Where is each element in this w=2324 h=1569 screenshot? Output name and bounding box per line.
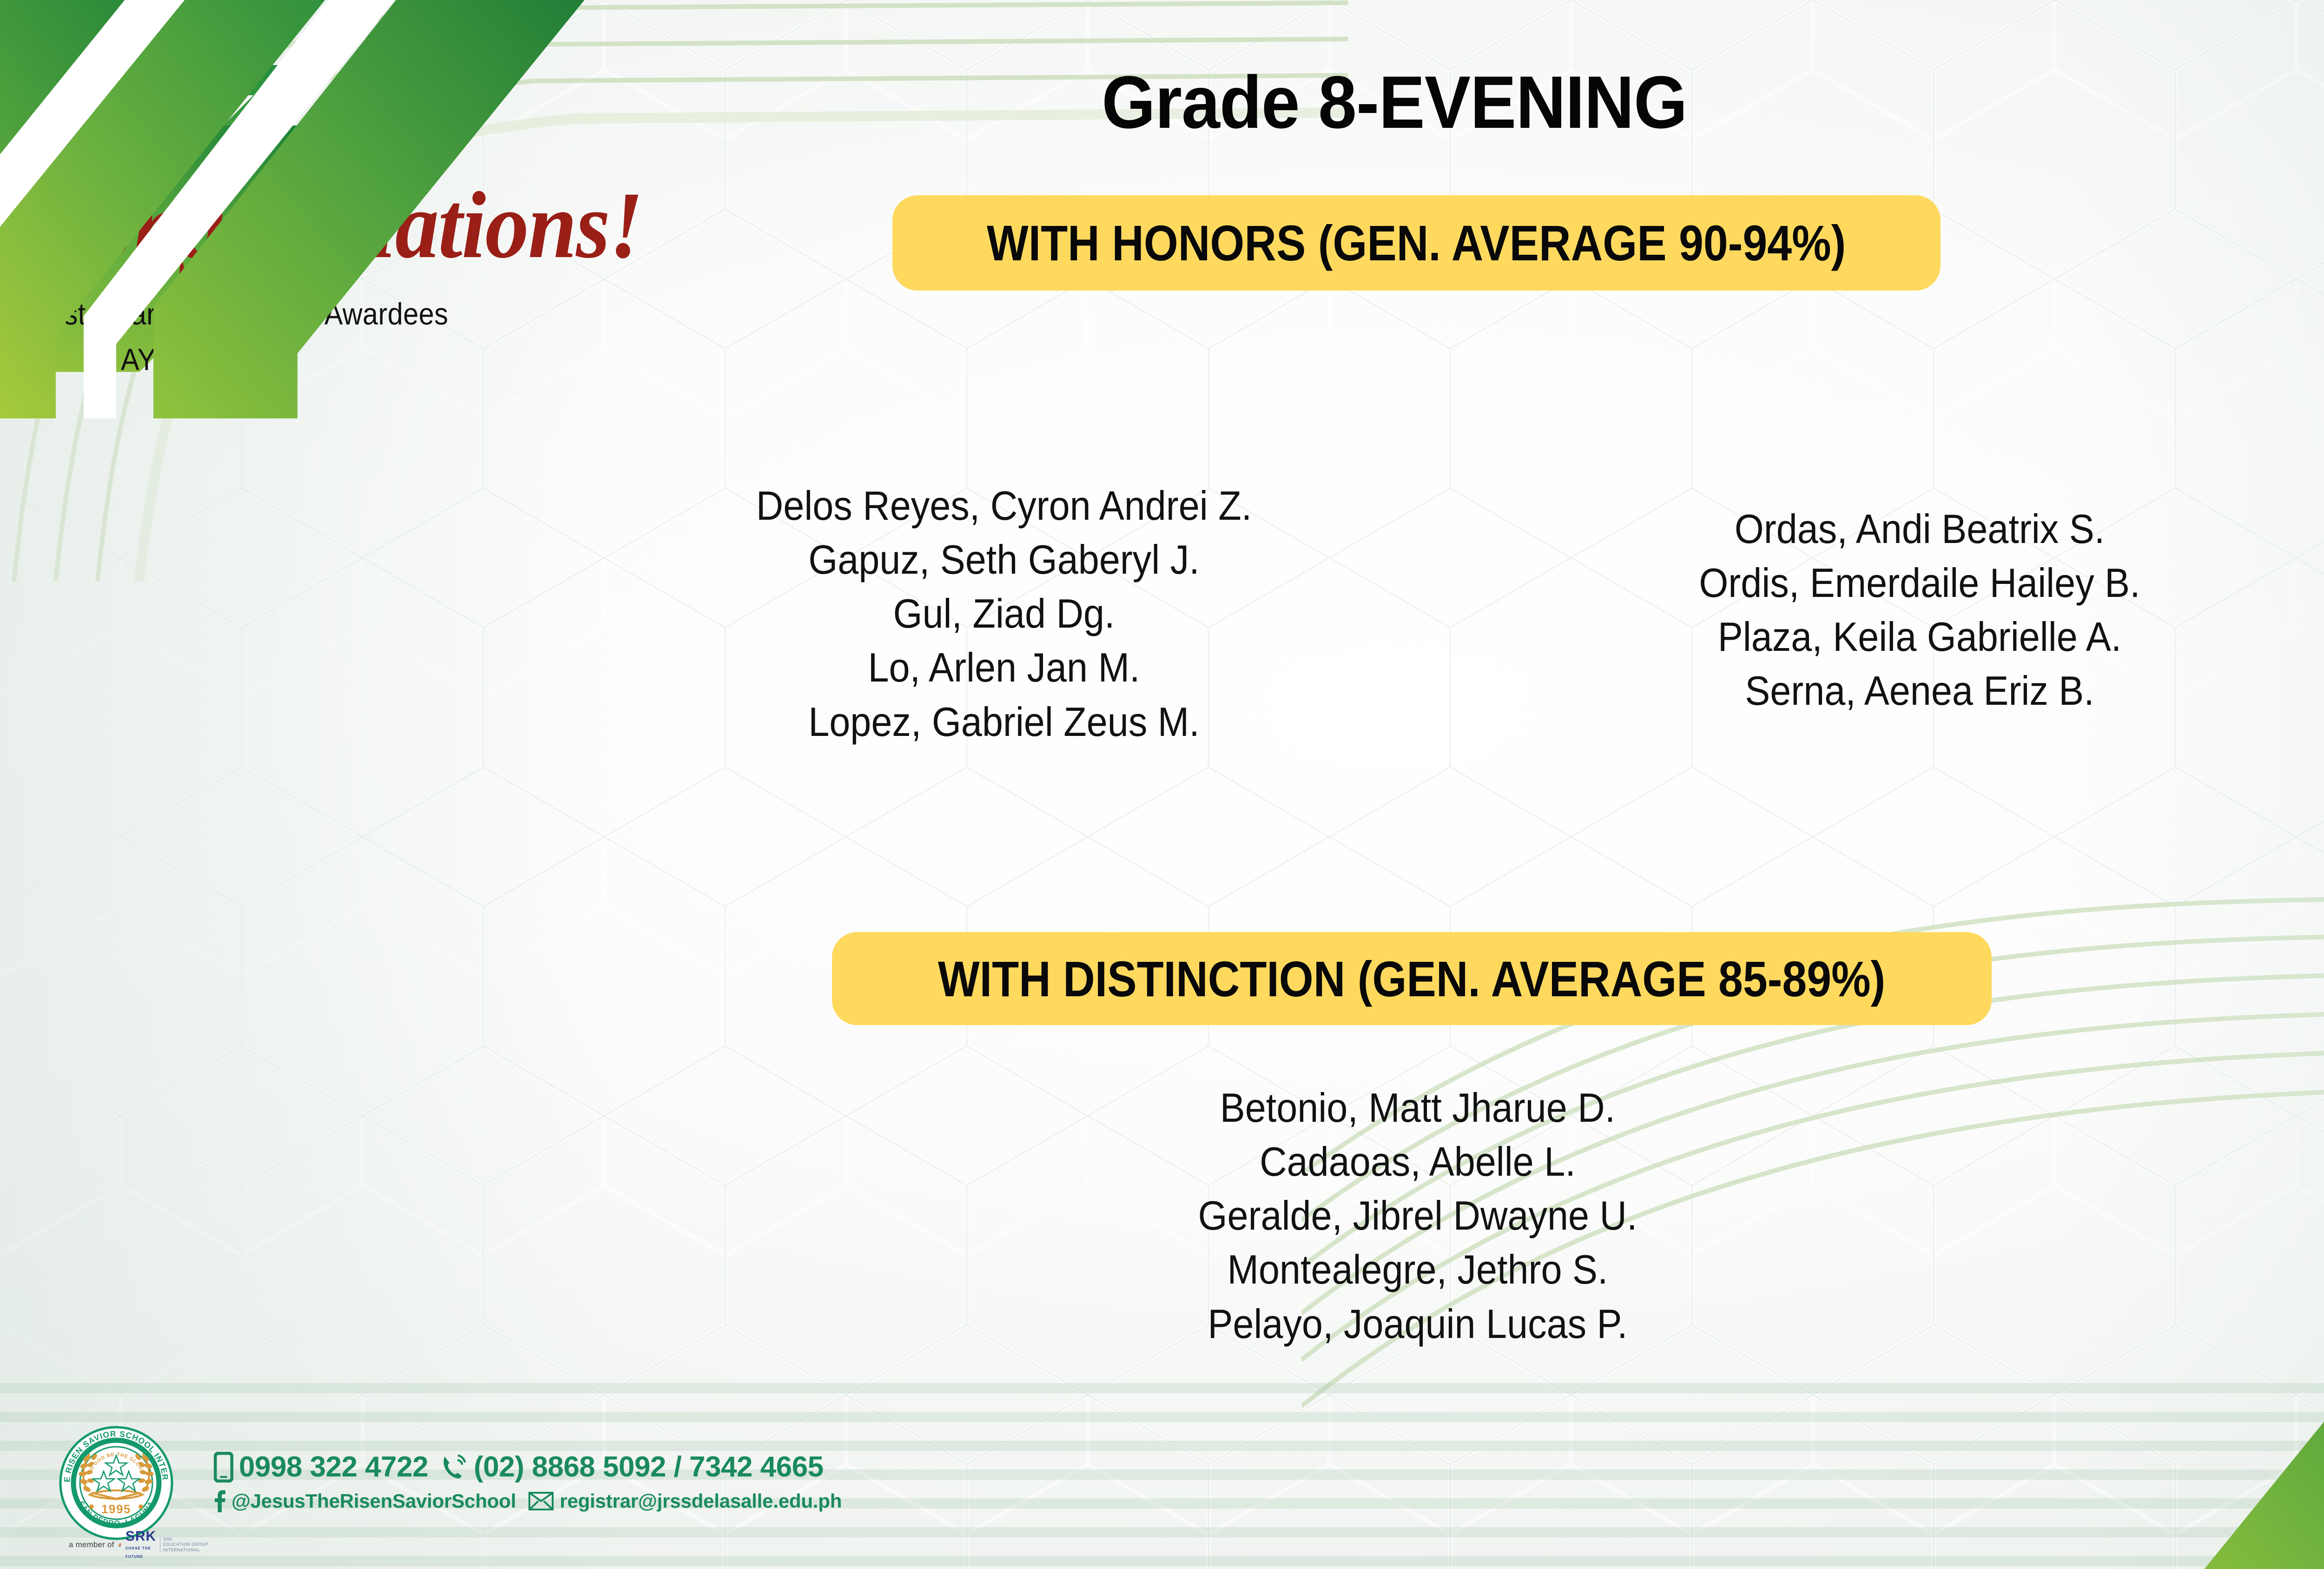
srk-group-line-3: INTERNATIONAL <box>163 1548 200 1552</box>
srk-word: SRK <box>125 1529 156 1544</box>
distinction-names-list: Betonio, Matt Jharue D. Cadaoas, Abelle … <box>957 1081 1878 1351</box>
email-address: registrar@jrssdelasalle.edu.ph <box>560 1490 842 1512</box>
list-item: Pelayo, Joaquin Lucas P. <box>994 1297 1841 1351</box>
email-envelope-icon <box>528 1491 554 1511</box>
list-item: Plaza, Keila Gabrielle A. <box>1496 610 2324 664</box>
srk-logo-icon <box>118 1539 122 1551</box>
contact-phone-row: 0998 322 4722 (02) 8868 5092 / 7342 4665 <box>214 1450 842 1483</box>
landline-number: (02) 8868 5092 / 7342 4665 <box>474 1450 823 1483</box>
status-badge-with-distinction: WITH DISTINCTION (GEN. AVERAGE 85-89%) <box>832 932 1992 1025</box>
school-seal-logo: JESUS THE RISEN SAVIOR SCHOOL INTERNATIO… <box>58 1425 174 1541</box>
telephone-icon <box>440 1453 468 1482</box>
list-item: Montealegre, Jethro S. <box>994 1243 1841 1297</box>
srk-group-line-1: SRK <box>163 1537 172 1542</box>
srk-group-line-2: EDUCATION GROUP <box>163 1542 208 1547</box>
list-item: Cadaoas, Abelle L. <box>994 1135 1841 1189</box>
list-item: Gapuz, Seth Gaberyl J. <box>581 533 1427 587</box>
honors-names-column-right: Ordas, Andi Beatrix S. Ordis, Emerdaile … <box>1459 502 2324 718</box>
list-item: Lopez, Gabriel Zeus M. <box>581 695 1427 749</box>
badge-label-with-honors: WITH HONORS (GEN. AVERAGE 90-94%) <box>987 214 1846 272</box>
list-item: Betonio, Matt Jharue D. <box>994 1081 1841 1135</box>
srk-tagline: CHASE THE FUTURE <box>125 1546 151 1559</box>
list-item: Gul, Ziad Dg. <box>581 587 1427 641</box>
corner-chevrons-bottom-right <box>2129 1151 2324 1569</box>
facebook-handle: @JesusTheRisenSaviorSchool <box>231 1490 516 1512</box>
facebook-icon <box>214 1490 226 1512</box>
list-item: Serna, Aenea Eriz B. <box>1496 664 2324 718</box>
srk-member-of-label: a member of <box>69 1540 114 1549</box>
srk-group-text: SRK EDUCATION GROUP INTERNATIONAL <box>160 1537 208 1553</box>
badge-label-with-distinction: WITH DISTINCTION (GEN. AVERAGE 85-89%) <box>938 950 1885 1008</box>
contact-footer: 0998 322 4722 (02) 8868 5092 / 7342 4665… <box>214 1450 842 1512</box>
srk-wordmark: SRK CHASE THE FUTURE <box>125 1529 156 1560</box>
list-item: Ordas, Andi Beatrix S. <box>1496 502 2324 556</box>
list-item: Ordis, Emerdaile Hailey B. <box>1496 556 2324 610</box>
poster-canvas: Congratulations! 1st Quarter Academic Aw… <box>0 0 2324 1569</box>
honors-names-column-left: Delos Reyes, Cyron Andrei Z. Gapuz, Seth… <box>544 479 1464 749</box>
list-item: Lo, Arlen Jan M. <box>581 641 1427 695</box>
corner-chevrons-top-left <box>0 0 660 418</box>
list-item: Geralde, Jibrel Dwayne U. <box>994 1189 1841 1243</box>
list-item: Delos Reyes, Cyron Andrei Z. <box>581 479 1427 533</box>
srk-member-mark: a member of SRK CHASE THE FUTURE SRK EDU… <box>69 1534 208 1556</box>
status-badge-with-honors: WITH HONORS (GEN. AVERAGE 90-94%) <box>892 195 1941 291</box>
mobile-phone-icon <box>214 1452 233 1483</box>
seal-year: 1995 <box>101 1502 131 1516</box>
contact-social-row: @JesusTheRisenSaviorSchool registrar@jrs… <box>214 1490 842 1512</box>
mobile-number: 0998 322 4722 <box>239 1450 428 1483</box>
